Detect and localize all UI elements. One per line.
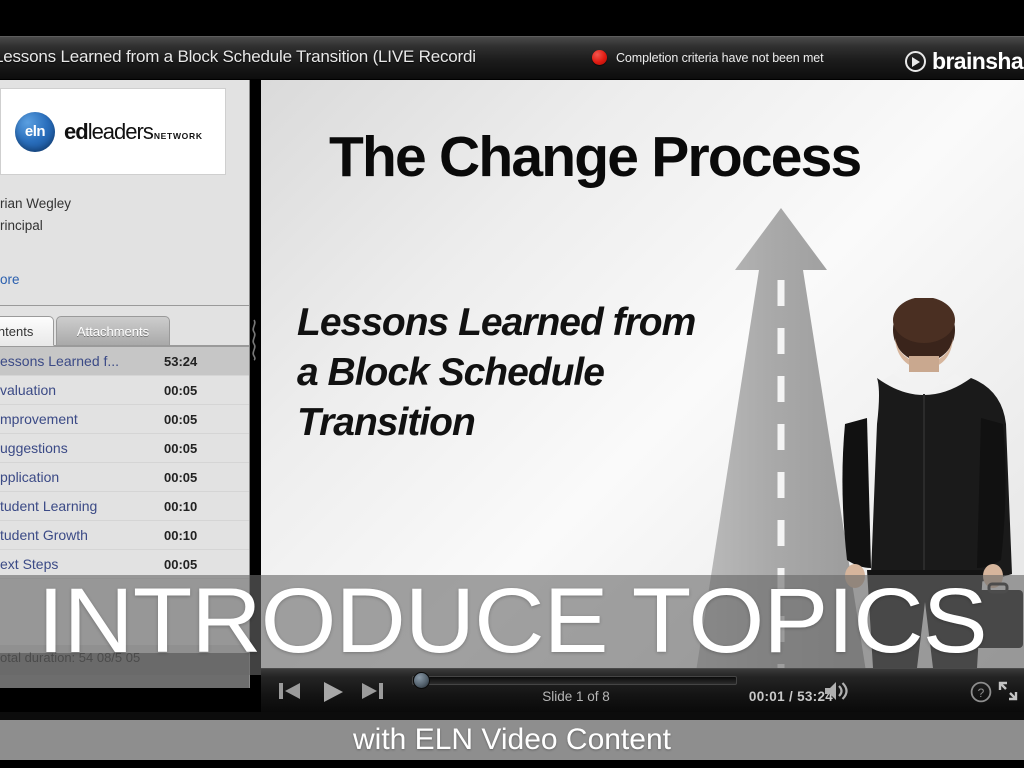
svg-text:?: ? [978,686,985,700]
eln-word-leaders: leaders [88,119,153,145]
sidebar-divider [0,305,250,306]
contents-item-label: mprovement [0,411,78,427]
tab-attachments[interactable]: Attachments [56,316,170,346]
bottom-caption-text: with ELN Video Content [353,723,671,757]
skip-next-icon [360,681,384,701]
contents-item-label: uggestions [0,440,68,456]
brainshark-player-window: Lessons Learned from a Block Schedule Tr… [0,0,1024,768]
eln-badge-icon: eln [15,112,55,152]
presenter-role: rincipal [0,215,230,237]
table-row[interactable]: essons Learned f...53:24 [0,347,250,376]
status-dot-icon [592,50,607,65]
contents-item-duration: 00:05 [164,412,197,427]
contents-item-duration: 00:05 [164,383,197,398]
presentation-title: Lessons Learned from a Block Schedule Tr… [0,47,476,67]
help-icon: ? [970,681,992,703]
table-row[interactable]: pplication00:05 [0,463,250,492]
sidebar-tabs: ontents Attachments [0,316,250,346]
time-display: 00:01 / 53:24 [701,689,881,704]
contents-item-duration: 00:05 [164,441,197,456]
next-button[interactable] [360,681,384,706]
table-row[interactable]: mprovement00:05 [0,405,250,434]
bottom-divider [0,712,1024,720]
table-row[interactable]: tudent Growth00:10 [0,521,250,550]
eln-logo-panel: eln ed leaders NETWORK [0,88,226,175]
contents-item-label: tudent Growth [0,527,88,543]
fullscreen-icon [998,681,1018,701]
player-controls: Slide 1 of 8 00:01 / 53:24 ? [261,668,1024,712]
top-black-strip [0,0,1024,36]
overlay-caption: INTRODUCE TOPICS [0,573,1024,669]
brainshark-logo-icon [905,51,926,72]
volume-icon [823,680,849,702]
title-bar: Lessons Learned from a Block Schedule Tr… [0,36,1024,80]
bottom-caption-bar: with ELN Video Content [0,720,1024,760]
fullscreen-button[interactable] [998,681,1018,706]
completion-status-text: Completion criteria have not been met [616,51,824,65]
completion-status: Completion criteria have not been met [592,50,824,65]
sidebar-splitter-handle[interactable] [248,318,260,362]
slide-counter: Slide 1 of 8 [416,689,736,704]
presenter-info: rian Wegley rincipal [0,193,230,237]
play-icon [321,681,345,703]
tab-contents[interactable]: ontents [0,316,54,346]
progress-slider[interactable] [412,676,737,685]
eln-word-ed: ed [64,119,88,145]
table-row[interactable]: uggestions00:05 [0,434,250,463]
progress-slider-knob[interactable] [413,672,430,689]
contents-item-duration: 00:10 [164,499,197,514]
table-row[interactable]: tudent Learning00:10 [0,492,250,521]
skip-previous-icon [278,681,302,701]
brand-name: brainsha [932,48,1023,75]
volume-button[interactable] [823,680,849,707]
bottom-black-strip [0,760,1024,768]
more-link[interactable]: ore [0,272,20,287]
play-button[interactable] [321,681,345,708]
table-row[interactable]: valuation00:05 [0,376,250,405]
contents-item-label: essons Learned f... [0,353,119,369]
slide-title: The Change Process [329,124,860,190]
eln-word-network: NETWORK [154,131,203,141]
contents-item-duration: 53:24 [164,354,197,369]
contents-item-label: pplication [0,469,59,485]
contents-item-duration: 00:05 [164,470,197,485]
help-button[interactable]: ? [970,681,992,708]
contents-item-label: tudent Learning [0,498,97,514]
brainshark-brand: brainsha [905,48,1023,75]
previous-button[interactable] [278,681,302,706]
contents-item-duration: 00:10 [164,528,197,543]
presenter-name: rian Wegley [0,193,230,215]
eln-wordmark: ed leaders NETWORK [64,119,203,145]
contents-list[interactable]: essons Learned f...53:24valuation00:05mp… [0,347,250,579]
contents-item-label: valuation [0,382,56,398]
splitter-grip-icon [248,318,260,362]
